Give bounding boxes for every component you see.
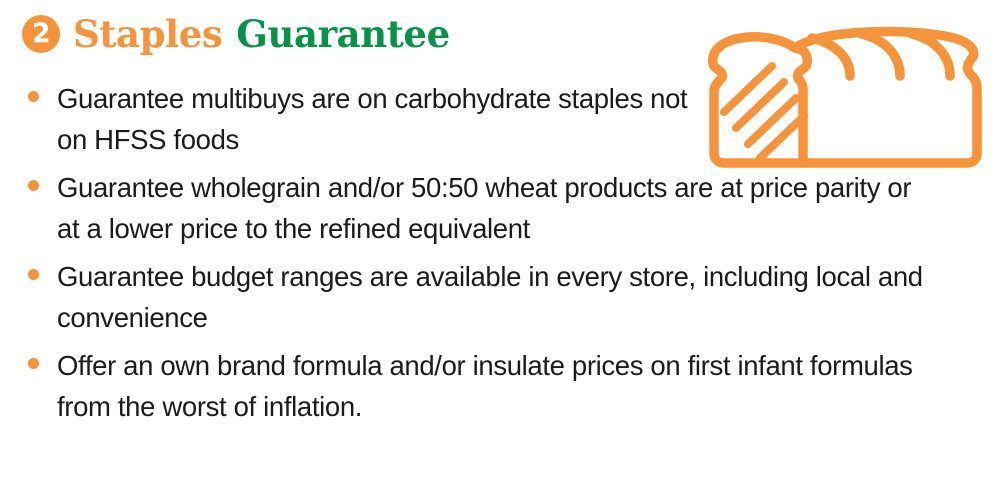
list-item: Guarantee multibuys are on carbohydrate … bbox=[28, 78, 968, 160]
title-word-secondary: Guarantee bbox=[236, 14, 449, 54]
bullet-dot-icon bbox=[28, 358, 39, 369]
bullet-dot-icon bbox=[28, 91, 39, 102]
bullet-text: Guarantee budget ranges are available in… bbox=[57, 256, 968, 338]
bullet-text: Guarantee wholegrain and/or 50:50 wheat … bbox=[57, 167, 937, 249]
list-item: Guarantee budget ranges are available in… bbox=[28, 256, 968, 338]
bullet-dot-icon bbox=[28, 269, 39, 280]
bullet-text: Offer an own brand formula and/or insula… bbox=[57, 345, 968, 427]
list-item: Guarantee wholegrain and/or 50:50 wheat … bbox=[28, 167, 968, 249]
bullet-list: Guarantee multibuys are on carbohydrate … bbox=[28, 78, 968, 434]
bullet-dot-icon bbox=[28, 180, 39, 191]
step-number-badge: 2 bbox=[22, 15, 60, 53]
list-item: Offer an own brand formula and/or insula… bbox=[28, 345, 968, 427]
page-title: 2 Staples Guarantee bbox=[22, 14, 450, 54]
slide-canvas: 2 Staples Guarantee bbox=[0, 0, 1002, 481]
bullet-text: Guarantee multibuys are on carbohydrate … bbox=[57, 78, 697, 160]
title-word-primary: Staples bbox=[73, 14, 222, 54]
